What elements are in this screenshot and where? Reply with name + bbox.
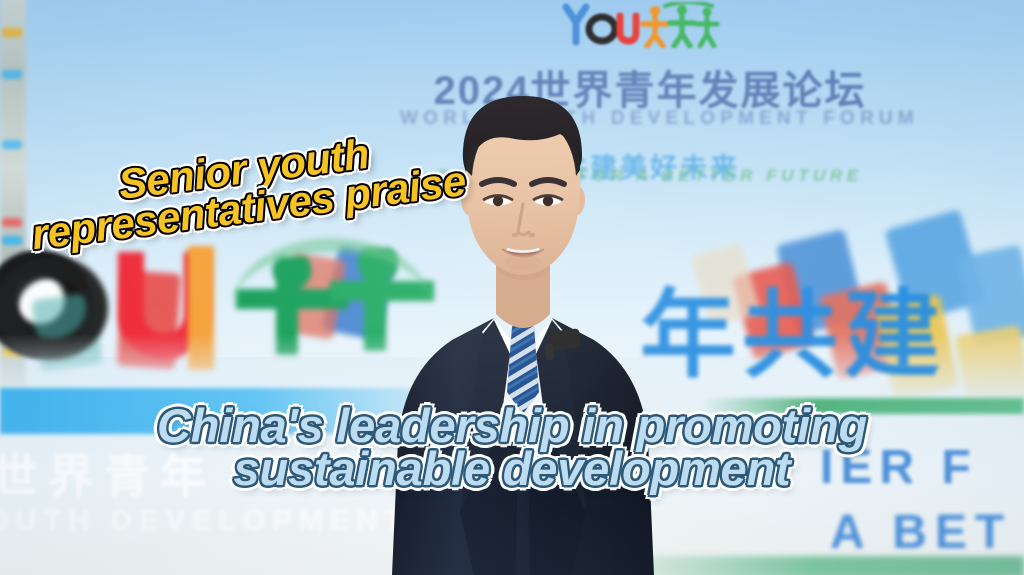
chin-shade <box>505 254 541 270</box>
truss-accent <box>2 140 22 149</box>
youth-logo <box>560 2 720 48</box>
nostril-left <box>512 233 519 238</box>
lower-banner-cn: 世界青年 <box>0 440 216 506</box>
lower-banner-right-line2: A BET <box>830 505 1012 560</box>
truss-accent <box>2 70 22 79</box>
backdrop-big-cn-right: 年共建 <box>640 290 946 381</box>
pupil-left <box>493 196 503 206</box>
truss-accent <box>2 28 22 37</box>
lower-banner-green-strip <box>700 398 1024 414</box>
truss-accent <box>2 218 22 227</box>
lower-banner-right-line1: IER F <box>820 440 978 495</box>
nostril-right <box>529 233 536 238</box>
truss-accent <box>2 236 22 245</box>
presenter <box>382 92 662 575</box>
pupil-right <box>543 196 553 206</box>
broadcast-frame: 2024世界青年发展论坛 WORLD YOUTH DEVELOPMENT FOR… <box>0 0 1024 575</box>
lapel-microphone <box>549 328 581 351</box>
